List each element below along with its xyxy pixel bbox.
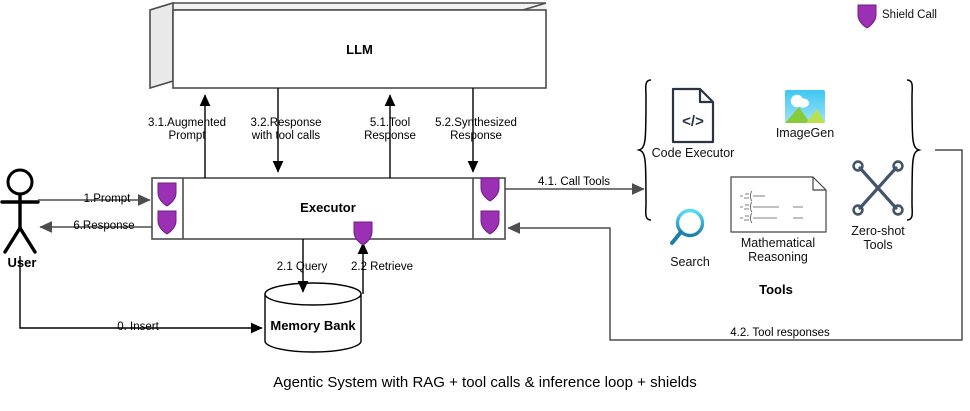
edge-label-retrieve: 2.2 Retrieve bbox=[332, 261, 432, 274]
edge-label-prompt: 1.Prompt bbox=[60, 193, 154, 206]
legend-shield-icon bbox=[858, 5, 876, 28]
executor-label: Executor bbox=[183, 200, 473, 215]
edge-label-tool-response: 5.1.Tool Response bbox=[344, 117, 436, 143]
edge-label-insert: 0. Insert bbox=[86, 321, 190, 334]
diagram-canvas: </> bbox=[0, 0, 970, 411]
shield-icon bbox=[354, 222, 372, 245]
code-document-icon: </> bbox=[673, 89, 713, 142]
crossed-wrenches-icon bbox=[854, 162, 903, 215]
tool-label-search: Search bbox=[658, 255, 722, 269]
edge-label-augmented-prompt: 3.1.Augmented Prompt bbox=[141, 117, 233, 143]
edge-label-tool-responses: 4.2. Tool responses bbox=[660, 327, 900, 340]
math-document-icon bbox=[731, 177, 826, 232]
edge-label-synthesized-response: 5.2.Synthesized Response bbox=[424, 117, 528, 143]
diagram-caption: Agentic System with RAG + tool calls & i… bbox=[0, 374, 970, 391]
tool-label-code-executor: Code Executor bbox=[645, 146, 741, 160]
edge-label-response-with-tool-calls: 3.2.Response with tool calls bbox=[234, 117, 338, 143]
user-label: User bbox=[0, 255, 44, 270]
edge-label-response: 6.Response bbox=[52, 220, 156, 233]
memory-bank-label: Memory Bank bbox=[265, 318, 361, 333]
tools-group-label: Tools bbox=[716, 282, 836, 297]
svg-text:</>: </> bbox=[682, 113, 704, 130]
tool-label-zero-shot-tools: Zero-shot Tools bbox=[838, 224, 918, 252]
tool-label-imagegen: ImageGen bbox=[763, 126, 847, 140]
user-node-shape bbox=[2, 170, 38, 252]
edge-label-call-tools: 4.1. Call Tools bbox=[518, 176, 630, 189]
tool-label-math-reasoning: Mathematical Reasoning bbox=[722, 236, 834, 264]
llm-label: LLM bbox=[173, 42, 546, 57]
magnifier-icon bbox=[672, 211, 703, 244]
legend-label: Shield Call bbox=[882, 8, 970, 22]
image-gen-icon bbox=[785, 90, 825, 123]
